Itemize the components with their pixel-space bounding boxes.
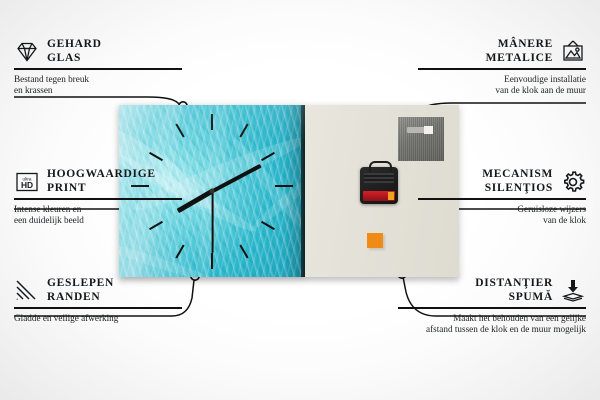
svg-text:HD: HD: [21, 180, 33, 190]
diamond-icon: [14, 39, 40, 65]
clock-tick: [211, 253, 213, 269]
callout-rule: [418, 68, 586, 70]
callout-header: MECANISM SILENŢIOS: [418, 168, 586, 195]
clock-tick: [211, 114, 213, 130]
hanger-slot: [407, 127, 433, 133]
callout-title: MÂNERE METALICE: [486, 38, 553, 65]
callout-header: DISTANŢIER SPUMĂ: [398, 277, 586, 304]
clock-tick: [149, 152, 163, 161]
foam-spacer: [367, 233, 383, 248]
ultra-hd-icon: ultra HD: [14, 169, 40, 195]
callout-description: Gladde en veilige afwerking: [14, 313, 182, 325]
callout-header: ultra HD HOOGWAARDIGE PRINT: [14, 168, 182, 195]
clock-tick: [239, 124, 248, 138]
clock-second-hand: [212, 191, 214, 253]
mechanism-loop: [369, 161, 392, 172]
mechanism-ridge: [364, 173, 394, 183]
clock-tick: [175, 245, 184, 259]
clock-tick: [261, 221, 275, 230]
callout-description: Bestand tegen breuk en krassen: [14, 74, 182, 97]
clock-mechanism: [360, 167, 398, 204]
callout-manere-metalice: MÂNERE METALICE Eenvoudige installatie v…: [418, 38, 586, 97]
callout-title: MECANISM SILENŢIOS: [482, 168, 553, 195]
callout-header: GEHARD GLAS: [14, 38, 182, 65]
callout-description: Geruisloze wijzers van de klok: [418, 204, 586, 227]
clock-pivot: [210, 189, 215, 194]
callout-mecanism-silentios: MECANISM SILENŢIOS Geruisloze wijzers va…: [418, 168, 586, 227]
clock-tick: [261, 152, 275, 161]
callout-rule: [14, 68, 182, 70]
callout-rule: [14, 307, 182, 309]
callout-title: GEHARD GLAS: [47, 38, 102, 65]
clock-tick: [275, 185, 293, 187]
callout-description: Maakt het behouden van een gelijke afsta…: [398, 313, 586, 336]
clock-tick: [239, 245, 248, 259]
picture-frame-icon: [560, 39, 586, 65]
arrow-down-layers-icon: [560, 278, 586, 304]
callout-rule: [418, 198, 586, 200]
callout-title: HOOGWAARDIGE PRINT: [47, 168, 156, 195]
callout-title: GESLEPEN RANDEN: [47, 277, 114, 304]
gear-icon: [560, 169, 586, 195]
callout-geslepen-randen: GESLEPEN RANDEN Gladde en veilige afwerk…: [14, 277, 182, 324]
metal-hanger: [398, 117, 444, 161]
battery: [363, 191, 395, 201]
callout-description: Intense kleuren en een duidelijk beeld: [14, 204, 182, 227]
clock-hour-hand: [177, 189, 214, 213]
callout-distantier-spuma: DISTANŢIER SPUMĂ Maakt het behouden van …: [398, 277, 586, 336]
clock-minute-hand: [212, 164, 262, 193]
callout-rule: [398, 307, 586, 309]
callout-rule: [14, 198, 182, 200]
callout-title: DISTANŢIER SPUMĂ: [475, 277, 553, 304]
callout-gehard-glas: GEHARD GLAS Bestand tegen breuk en krass…: [14, 38, 182, 97]
callout-hoogwaardige-print: ultra HD HOOGWAARDIGE PRINT Intense kleu…: [14, 168, 182, 227]
callout-description: Eenvoudige installatie van de klok aan d…: [418, 74, 586, 97]
callout-header: GESLEPEN RANDEN: [14, 277, 182, 304]
clock-tick: [175, 124, 184, 138]
poster-canvas: GEHARD GLAS Bestand tegen breuk en krass…: [0, 0, 600, 400]
beveled-edges-icon: [14, 278, 40, 304]
callout-header: MÂNERE METALICE: [418, 38, 586, 65]
